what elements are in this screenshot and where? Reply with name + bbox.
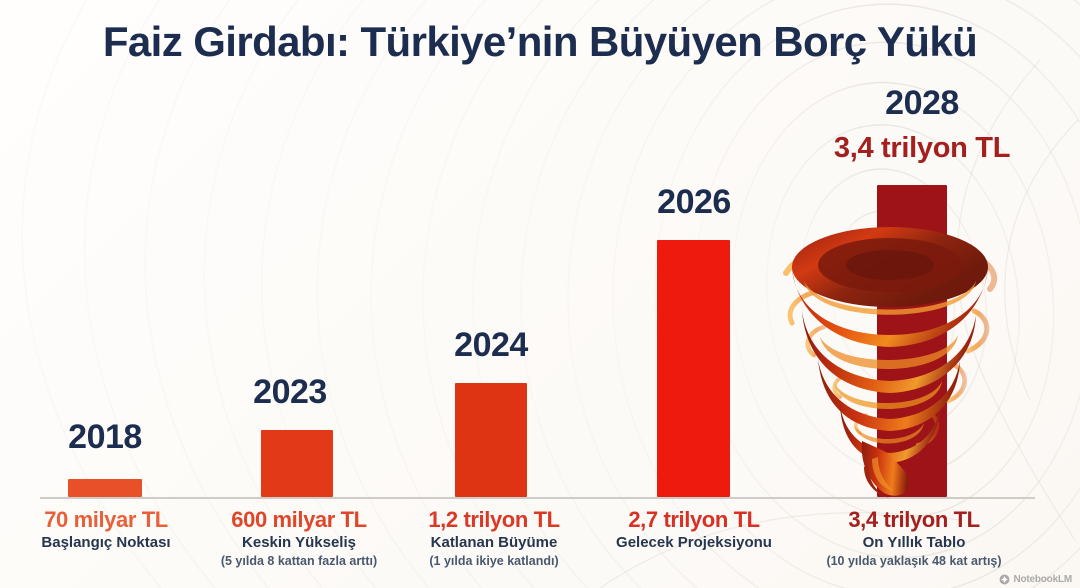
caption-desc-2024: Katlanan Büyüme [400,533,588,553]
caption-note-2023: (5 yılda 8 kattan fazla arttı) [205,553,393,570]
bar-2024[interactable] [455,383,527,497]
caption-amount-2026: 2,7 trilyon TL [600,506,788,533]
notebooklm-icon [999,574,1010,585]
caption-row: 70 milyar TL Başlangıç Noktası 600 milya… [0,506,1080,588]
year-label-2024: 2024 [431,326,551,365]
caption-note-2028: (10 yılda yaklaşık 48 kat artış) [808,553,1020,570]
year-label-2018: 2018 [45,418,165,457]
year-label-2026: 2026 [634,183,754,222]
tornado-icon [778,215,1008,500]
year-label-2028: 2028 [852,84,992,123]
year-label-2023: 2023 [230,373,350,412]
caption-desc-2026: Gelecek Projeksiyonu [600,533,788,553]
caption-2018: 70 milyar TL Başlangıç Noktası [18,506,194,553]
caption-desc-2018: Başlangıç Noktası [18,533,194,553]
caption-amount-2024: 1,2 trilyon TL [400,506,588,533]
watermark: NotebookLM [999,574,1072,585]
caption-2026: 2,7 trilyon TL Gelecek Projeksiyonu [600,506,788,553]
infographic-canvas: Faiz Girdabı: Türkiye’nin Büyüyen Borç Y… [0,0,1080,588]
caption-amount-2023: 600 milyar TL [205,506,393,533]
caption-2024: 1,2 trilyon TL Katlanan Büyüme (1 yılda … [400,506,588,570]
caption-note-2024: (1 yılda ikiye katlandı) [400,553,588,570]
caption-2023: 600 milyar TL Keskin Yükseliş (5 yılda 8… [205,506,393,570]
caption-2028: 3,4 trilyon TL On Yıllık Tablo (10 yılda… [808,506,1020,570]
caption-amount-2028: 3,4 trilyon TL [808,506,1020,533]
bar-chart: 2018 2023 2024 2026 2028 3,4 trilyon TL [0,0,1080,588]
bar-2023[interactable] [261,430,333,497]
caption-desc-2028: On Yıllık Tablo [808,533,1020,553]
bar-2018[interactable] [68,479,142,497]
amount-label-2028-top: 3,4 trilyon TL [792,132,1052,165]
bar-2026[interactable] [657,240,730,497]
caption-amount-2018: 70 milyar TL [18,506,194,533]
caption-desc-2023: Keskin Yükseliş [205,533,393,553]
watermark-label: NotebookLM [1013,574,1072,585]
